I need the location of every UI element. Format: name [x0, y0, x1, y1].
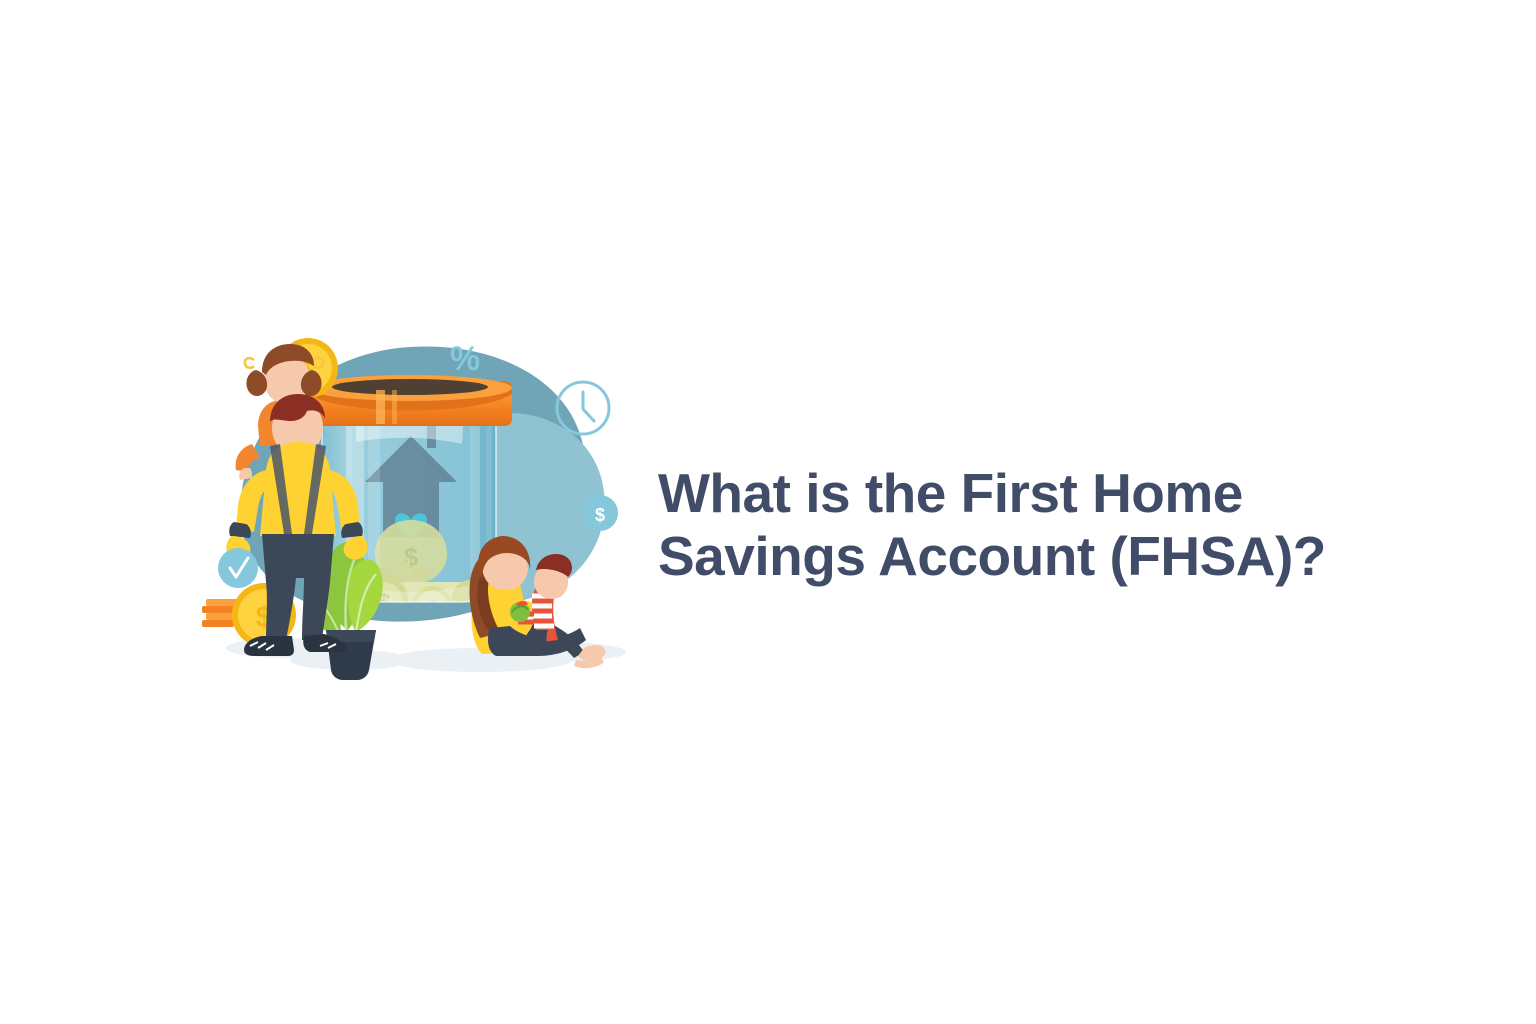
svg-text:$: $ [595, 505, 605, 525]
hero-banner: $ [0, 0, 1536, 1024]
page-title-line-2: Savings Account (FHSA)? [658, 525, 1378, 588]
jar-lid [308, 375, 512, 426]
page-title: What is the First Home Savings Account (… [658, 462, 1378, 588]
percent-symbol: % [450, 340, 480, 378]
page-title-line-1: What is the First Home [658, 462, 1378, 525]
check-badge [218, 548, 258, 588]
savings-illustration: $ [180, 330, 660, 690]
dollar-badge: $ [582, 495, 618, 531]
